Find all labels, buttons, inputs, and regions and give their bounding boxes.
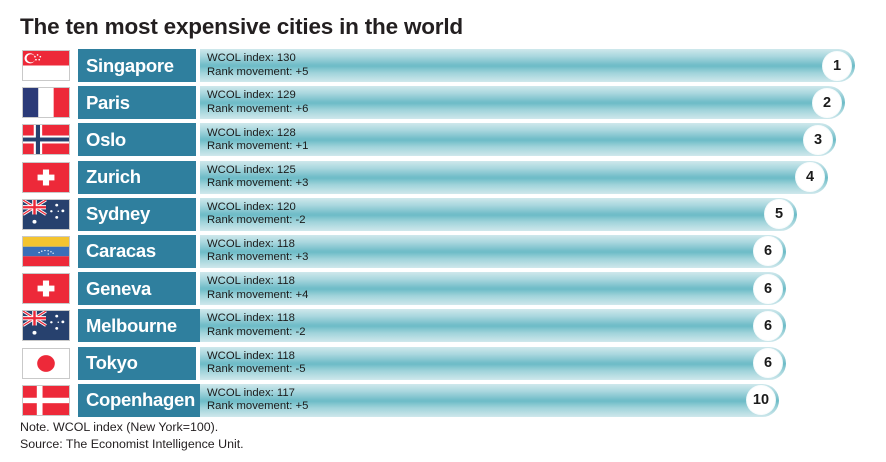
city-row: ParisWCOL index: 129Rank movement: +62 bbox=[0, 84, 886, 121]
city-row: SydneyWCOL index: 120Rank movement: -25 bbox=[0, 196, 886, 233]
city-name: Paris bbox=[78, 92, 130, 114]
city-row: SingaporeWCOL index: 130Rank movement: +… bbox=[0, 47, 886, 84]
city-name: Geneva bbox=[78, 278, 151, 300]
city-name: Oslo bbox=[78, 129, 126, 151]
city-bar-list: SingaporeWCOL index: 130Rank movement: +… bbox=[0, 47, 886, 419]
city-name: Zurich bbox=[78, 166, 141, 188]
infographic-root: The ten most expensive cities in the wor… bbox=[0, 0, 886, 462]
city-name: Caracas bbox=[78, 240, 156, 262]
rank-badge: 2 bbox=[813, 89, 841, 117]
rank-badge: 3 bbox=[804, 126, 832, 154]
denmark-flag bbox=[22, 385, 70, 416]
city-row: ZurichWCOL index: 125Rank movement: +34 bbox=[0, 159, 886, 196]
rank-badge: 4 bbox=[796, 163, 824, 191]
city-name: Tokyo bbox=[78, 352, 138, 374]
switzerland-flag bbox=[22, 273, 70, 304]
singapore-flag bbox=[22, 50, 70, 81]
value-bar bbox=[200, 161, 828, 194]
city-name: Sydney bbox=[78, 203, 150, 225]
city-row: TokyoWCOL index: 118Rank movement: -56 bbox=[0, 345, 886, 382]
switzerland-flag bbox=[22, 162, 70, 193]
city-label-bar: Paris bbox=[78, 86, 196, 119]
source-text: Source: The Economist Intelligence Unit. bbox=[20, 436, 244, 453]
value-bar bbox=[200, 347, 786, 380]
city-label-bar: Zurich bbox=[78, 161, 196, 194]
value-bar bbox=[200, 123, 836, 156]
page-title: The ten most expensive cities in the wor… bbox=[20, 14, 463, 40]
city-name: Copenhagen bbox=[78, 389, 195, 411]
value-bar bbox=[200, 198, 797, 231]
value-bar bbox=[200, 235, 786, 268]
venezuela-flag bbox=[22, 236, 70, 267]
city-row: CopenhagenWCOL index: 117Rank movement: … bbox=[0, 382, 886, 419]
rank-badge: 6 bbox=[754, 312, 782, 340]
city-row: CaracasWCOL index: 118Rank movement: +36 bbox=[0, 233, 886, 270]
footer-notes: Note. WCOL index (New York=100). Source:… bbox=[20, 419, 244, 452]
australia-flag bbox=[22, 199, 70, 230]
rank-badge: 1 bbox=[823, 52, 851, 80]
france-flag bbox=[22, 87, 70, 118]
value-bar bbox=[200, 272, 786, 305]
rank-badge: 6 bbox=[754, 349, 782, 377]
japan-flag bbox=[22, 348, 70, 379]
city-label-bar: Geneva bbox=[78, 272, 196, 305]
note-text: Note. WCOL index (New York=100). bbox=[20, 419, 244, 436]
value-bar bbox=[200, 384, 779, 417]
city-row: OsloWCOL index: 128Rank movement: +13 bbox=[0, 121, 886, 158]
city-label-bar: Oslo bbox=[78, 123, 196, 156]
city-label-bar: Copenhagen bbox=[78, 384, 212, 417]
rank-badge: 6 bbox=[754, 275, 782, 303]
norway-flag bbox=[22, 124, 70, 155]
city-label-bar: Sydney bbox=[78, 198, 196, 231]
city-label-bar: Singapore bbox=[78, 49, 196, 82]
value-bar bbox=[200, 309, 786, 342]
city-label-bar: Melbourne bbox=[78, 309, 212, 342]
city-label-bar: Tokyo bbox=[78, 347, 196, 380]
rank-badge: 10 bbox=[747, 386, 775, 414]
value-bar bbox=[200, 49, 855, 82]
city-label-bar: Caracas bbox=[78, 235, 196, 268]
city-name: Singapore bbox=[78, 55, 174, 77]
city-name: Melbourne bbox=[78, 315, 177, 337]
city-row: MelbourneWCOL index: 118Rank movement: -… bbox=[0, 307, 886, 344]
city-row: GenevaWCOL index: 118Rank movement: +46 bbox=[0, 270, 886, 307]
australia-flag bbox=[22, 310, 70, 341]
value-bar bbox=[200, 86, 845, 119]
